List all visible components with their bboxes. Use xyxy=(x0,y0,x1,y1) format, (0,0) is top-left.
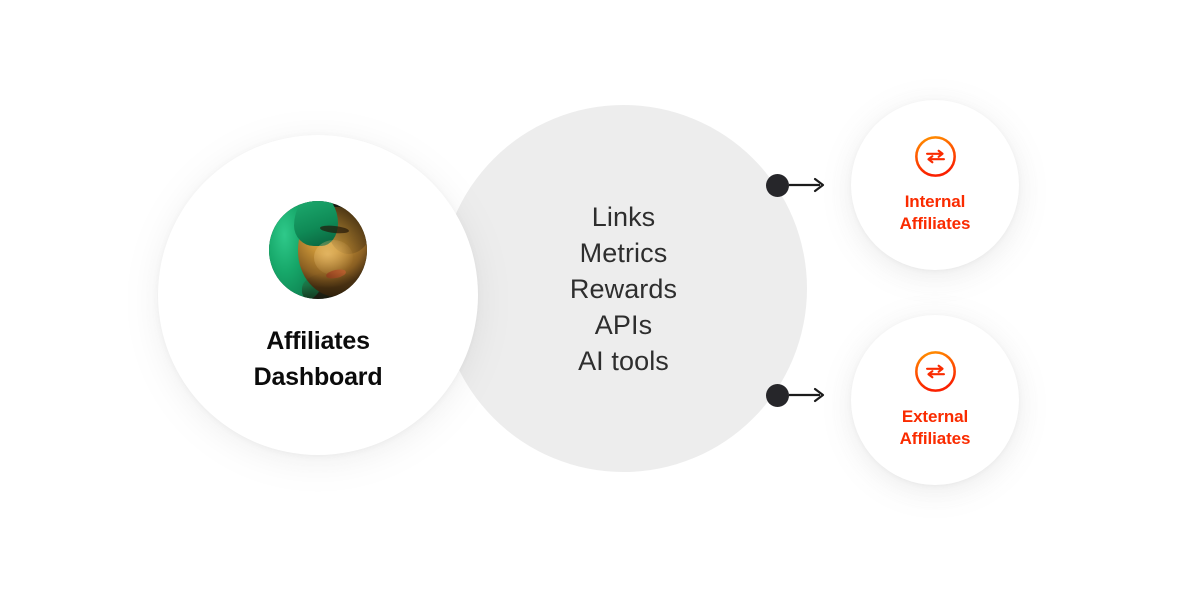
diagram-canvas: Links Metrics Rewards APIs AI tools Affi… xyxy=(0,0,1200,589)
hub-feature-links: Links xyxy=(592,199,656,235)
hub-feature-apis: APIs xyxy=(595,307,652,343)
affiliates-dashboard-node[interactable]: Affiliates Dashboard xyxy=(158,135,478,455)
card-internal-affiliates[interactable]: Internal Affiliates xyxy=(851,100,1019,270)
card-internal-label-line1: Internal xyxy=(900,191,971,213)
connector-dot-internal xyxy=(766,174,789,197)
card-external-affiliates[interactable]: External Affiliates xyxy=(851,315,1019,485)
dashboard-title-line1: Affiliates xyxy=(254,323,383,359)
exchange-arrows-icon xyxy=(914,350,957,393)
arrow-right-icon xyxy=(789,386,827,404)
card-external-label: External Affiliates xyxy=(900,406,971,450)
avatar xyxy=(269,201,367,299)
card-internal-label: Internal Affiliates xyxy=(900,191,971,235)
card-external-label-line1: External xyxy=(900,406,971,428)
hub-feature-rewards: Rewards xyxy=(570,271,677,307)
connector-internal xyxy=(766,173,827,197)
hub-feature-metrics: Metrics xyxy=(580,235,668,271)
connector-external xyxy=(766,383,827,407)
hub-feature-list: Links Metrics Rewards APIs AI tools xyxy=(440,105,807,472)
arrow-right-icon xyxy=(789,176,827,194)
exchange-arrows-icon xyxy=(914,135,957,178)
connector-dot-external xyxy=(766,384,789,407)
card-internal-label-line2: Affiliates xyxy=(900,213,971,235)
dashboard-title: Affiliates Dashboard xyxy=(254,323,383,395)
card-external-label-line2: Affiliates xyxy=(900,428,971,450)
hub-feature-ai-tools: AI tools xyxy=(578,343,669,379)
dashboard-title-line2: Dashboard xyxy=(254,359,383,395)
